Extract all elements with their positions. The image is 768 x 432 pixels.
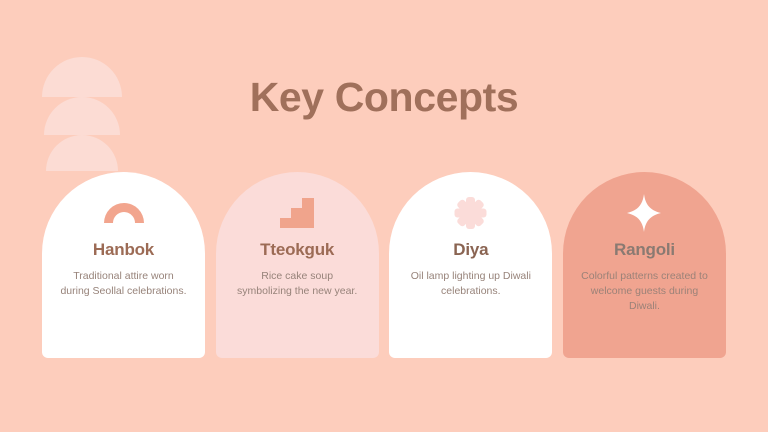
card-title: Tteokguk: [260, 240, 334, 260]
card-title: Hanbok: [93, 240, 154, 260]
concept-card-rangoli[interactable]: Rangoli Colorful patterns created to wel…: [563, 172, 726, 358]
card-description: Rice cake soup symbolizing the new year.: [233, 269, 361, 299]
concept-card-diya[interactable]: Diya Oil lamp lighting up Diwali celebra…: [389, 172, 552, 358]
page-title: Key Concepts: [0, 74, 768, 121]
slide-canvas: Key Concepts Hanbok Traditional attire w…: [0, 0, 768, 432]
concept-card-tteokguk[interactable]: Tteokguk Rice cake soup symbolizing the …: [216, 172, 379, 358]
card-description: Oil lamp lighting up Diwali celebrations…: [407, 269, 535, 299]
card-title: Diya: [453, 240, 488, 260]
concept-card-hanbok[interactable]: Hanbok Traditional attire worn during Se…: [42, 172, 205, 358]
sparkle-star-icon: [623, 196, 665, 230]
concept-card-list: Hanbok Traditional attire worn during Se…: [42, 172, 726, 358]
card-description: Traditional attire worn during Seollal c…: [60, 269, 188, 299]
card-title: Rangoli: [614, 240, 675, 260]
dome-shape-3: [46, 135, 118, 171]
rainbow-arch-icon: [103, 196, 145, 230]
card-description: Colorful patterns created to welcome gue…: [580, 269, 708, 315]
asterisk-starburst-icon: [450, 196, 492, 230]
stairs-icon: [276, 196, 318, 230]
